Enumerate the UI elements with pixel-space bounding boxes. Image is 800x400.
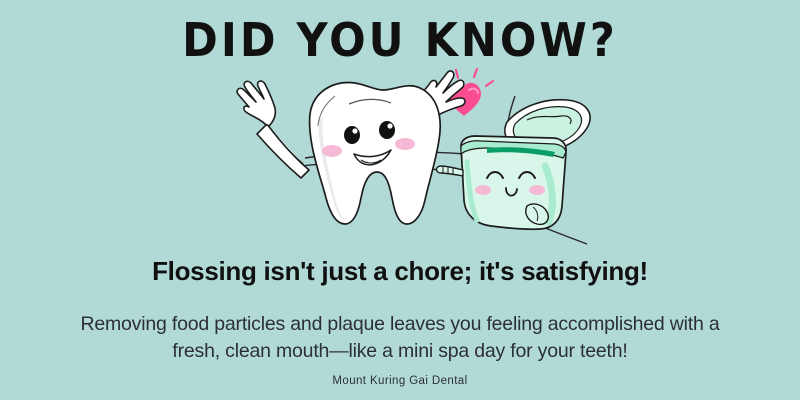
headline: Flossing isn't just a chore; it's satisf… [0,255,800,287]
tooth-eye-left [344,126,360,144]
body-copy: Removing food particles and plaque leave… [60,311,740,365]
illustration-artwork [215,66,635,246]
poster-canvas: DID YOU KNOW? [0,0,800,400]
brand-footer: Mount Kuring Gai Dental [0,375,800,387]
happy-tooth-character [237,71,465,224]
tooth-left-arm [237,81,309,178]
tooth-left-hand [237,81,275,126]
tooth-eye-right [379,121,395,139]
floss-blush-left [475,185,491,195]
tooth-blush-right [395,138,415,150]
page-title: DID YOU KNOW? [0,14,800,68]
floss-container-character [437,100,591,230]
tooth-blush-left [322,145,342,157]
floss-blush-right [529,185,545,195]
